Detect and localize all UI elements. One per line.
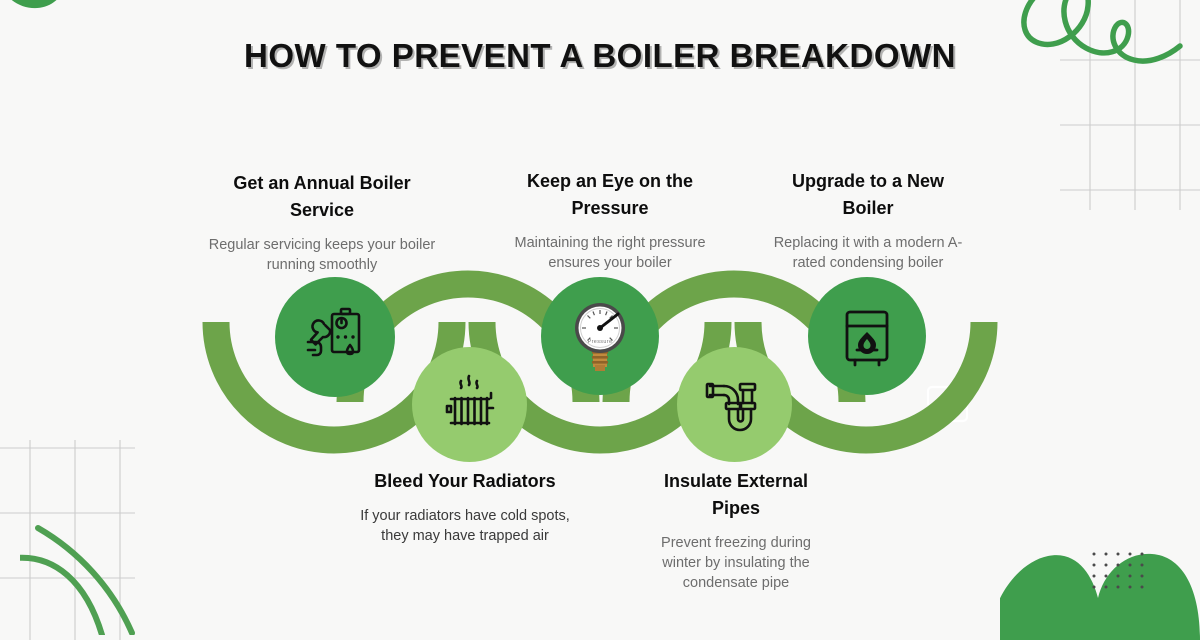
pressure-gauge-icon: Pressure [561, 295, 639, 377]
radiator-icon [437, 372, 503, 438]
step-heading: Keep an Eye on the Pressure [503, 168, 717, 222]
step-body: Prevent freezing during winter by insula… [645, 533, 827, 593]
gauge-dial-label: Pressure [588, 339, 613, 345]
step-text-new-boiler: Upgrade to a New Boiler Replacing it wit… [768, 168, 968, 273]
step-body: Maintaining the right pressure ensures y… [503, 233, 717, 273]
step-heading: Bleed Your Radiators [350, 468, 580, 495]
step-text-radiator: Bleed Your Radiators If your radiators h… [350, 468, 580, 546]
step-heading: Get an Annual Boiler Service [207, 170, 437, 224]
step-heading: Insulate External Pipes [645, 468, 827, 522]
step-circle-boiler-service[interactable] [275, 277, 395, 397]
step-circle-radiator[interactable] [412, 347, 527, 462]
step-text-pressure: Keep an Eye on the Pressure Maintaining … [503, 168, 717, 273]
process-flow: Pressure [0, 0, 1200, 628]
infographic-canvas: HOW TO PREVENT A BOILER BREAKDOWN [0, 0, 1200, 628]
step-circle-new-boiler[interactable] [808, 277, 926, 395]
wall-boiler-flame-icon [835, 304, 899, 368]
step-body: If your radiators have cold spots, they … [350, 506, 580, 546]
u-bend-pipe-icon [702, 372, 768, 438]
step-body: Replacing it with a modern A-rated conde… [768, 233, 968, 273]
step-body: Regular servicing keeps your boiler runn… [207, 235, 437, 275]
page-title: HOW TO PREVENT A BOILER BREAKDOWN [0, 30, 1200, 82]
step-circle-pressure-gauge[interactable]: Pressure [541, 277, 659, 395]
step-circle-insulate-pipes[interactable] [677, 347, 792, 462]
step-text-insulate-pipes: Insulate External Pipes Prevent freezing… [645, 468, 827, 593]
step-text-boiler-service: Get an Annual Boiler Service Regular ser… [207, 170, 437, 275]
step-heading: Upgrade to a New Boiler [768, 168, 968, 222]
boiler-service-wrench-icon [302, 304, 368, 370]
